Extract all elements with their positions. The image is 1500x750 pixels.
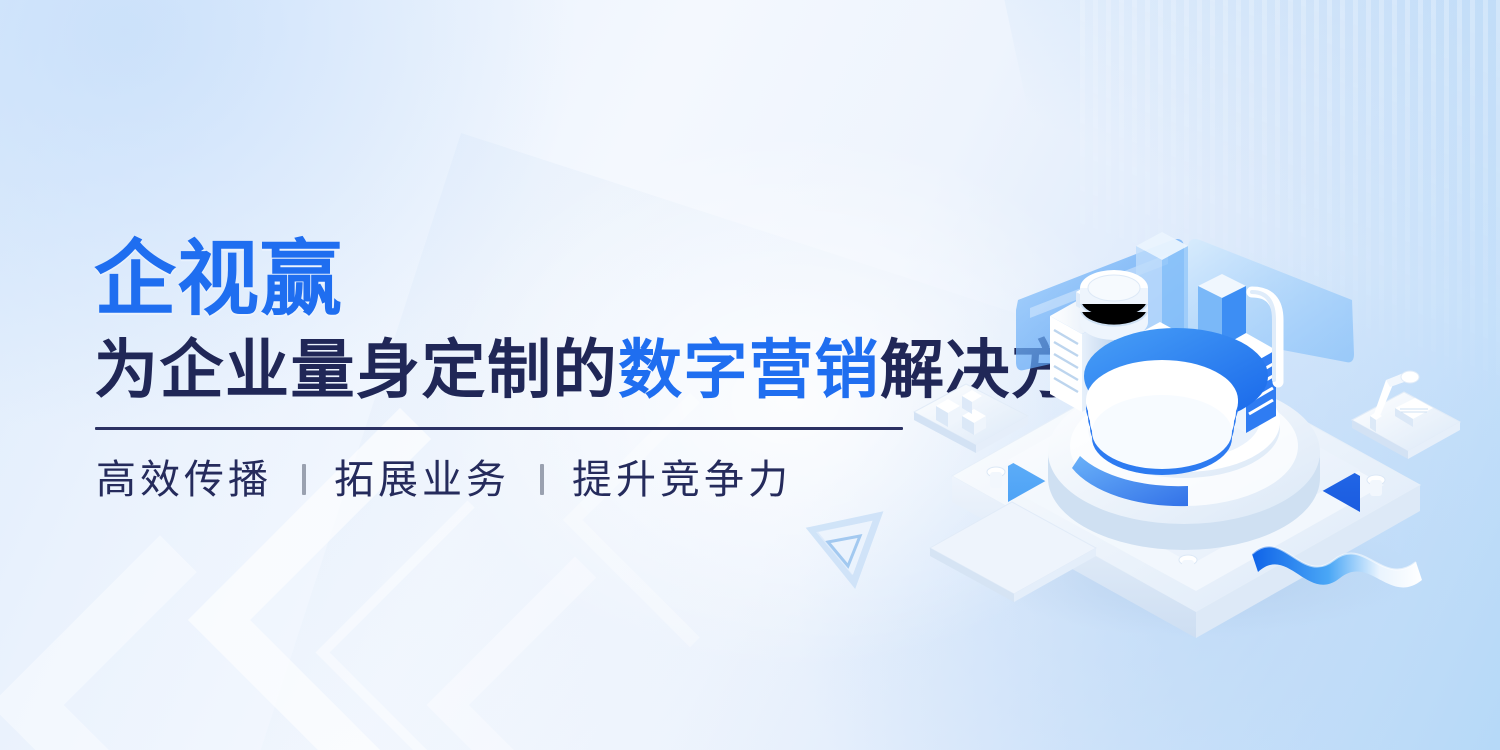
tagline-item-3: 提升竞争力: [572, 460, 792, 500]
divider-rule: [95, 427, 903, 430]
headline: 为企业量身定制的数字营销解决方案: [94, 338, 914, 403]
headline-accent: 数字营销: [618, 334, 880, 406]
background-chevron-1: [0, 535, 330, 750]
background-chevron-3: [315, 500, 619, 750]
hero-banner: 企视赢 为企业量身定制的数字营销解决方案 高效传播 拓展业务 提升竞争力: [0, 0, 1500, 750]
tagline-separator-2: [540, 464, 544, 495]
tagline-item-2: 拓展业务: [334, 460, 510, 500]
banner-copy: 企视赢 为企业量身定制的数字营销解决方案 高效传播 拓展业务 提升竞争力: [94, 238, 914, 500]
tagline-list: 高效传播 拓展业务 提升竞争力: [94, 460, 914, 500]
tagline-separator-1: [302, 464, 306, 495]
robot-arm-tile: [1352, 371, 1460, 459]
tagline-item-1: 高效传播: [96, 460, 272, 500]
isometric-illustration: [900, 230, 1480, 650]
brand-title: 企视赢: [94, 238, 914, 322]
glass-triangle: [812, 516, 878, 582]
headline-prefix: 为企业量身定制的: [94, 334, 618, 406]
background-chevron-4: [427, 557, 724, 750]
disc-stack: [1086, 360, 1238, 475]
